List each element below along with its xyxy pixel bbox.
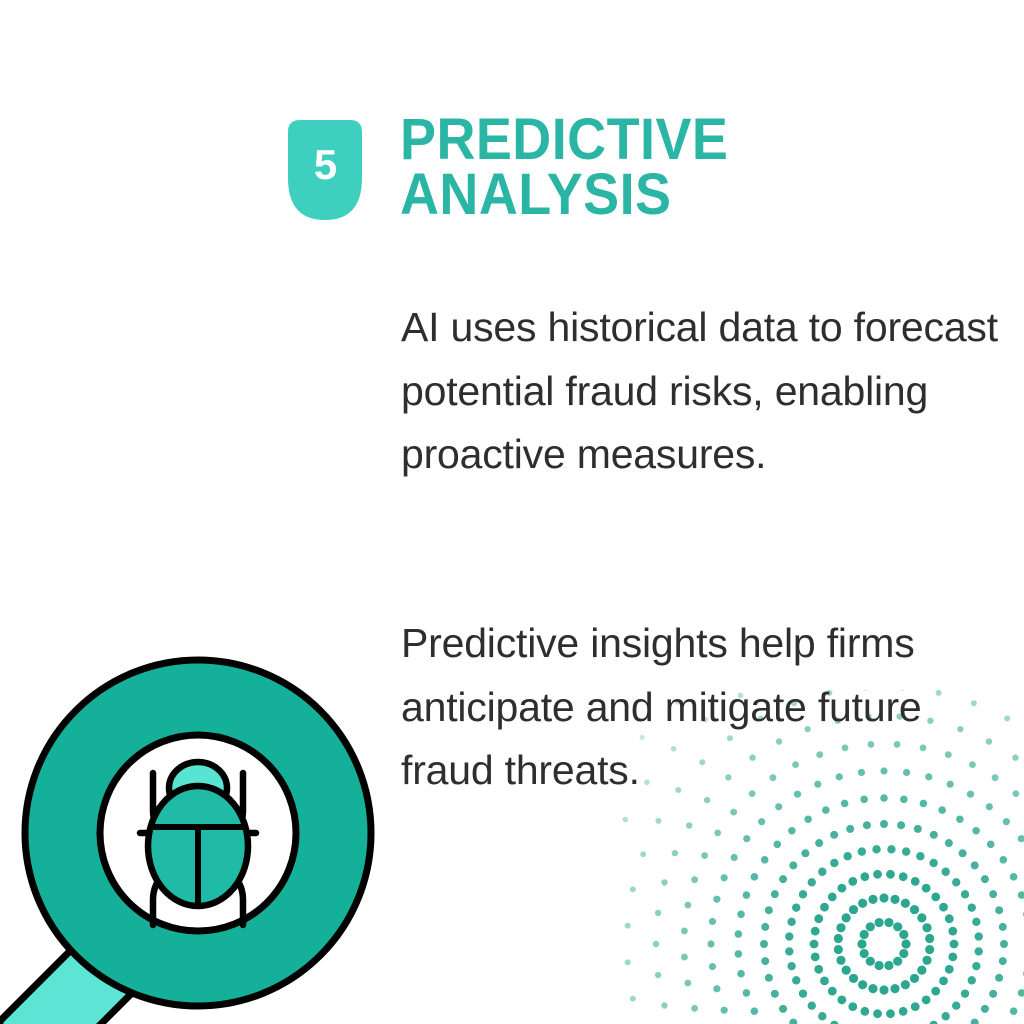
shield-badge-icon: 5: [288, 120, 362, 220]
slide-canvas: 5 PREDICTIVE ANALYSIS AI uses historical…: [0, 0, 1024, 1024]
header-block: 5 PREDICTIVE ANALYSIS: [288, 112, 988, 252]
magnifying-glass-icon: [0, 628, 410, 1024]
body-paragraph-2: Predictive insights help firms anticipat…: [401, 612, 1009, 803]
page-title: PREDICTIVE ANALYSIS: [400, 112, 921, 222]
body-paragraph-1: AI uses historical data to forecast pote…: [401, 296, 1009, 487]
